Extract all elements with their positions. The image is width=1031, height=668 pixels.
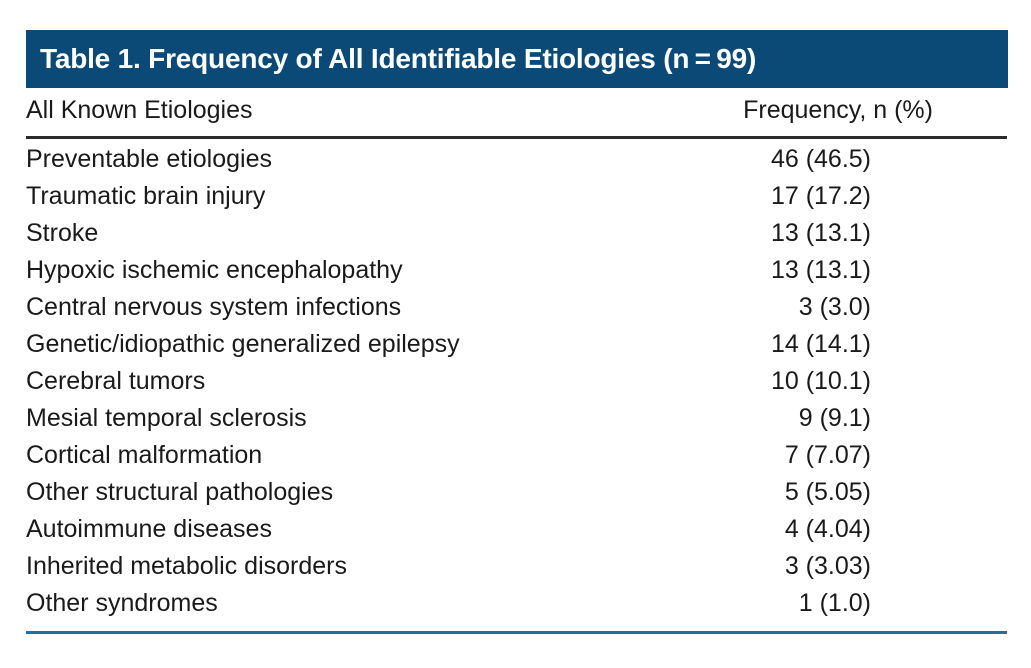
cell-etiology-label: Genetic/idiopathic generalized epilepsy	[26, 330, 681, 359]
table-title-bar: Table 1. Frequency of All Identifiable E…	[26, 30, 1008, 88]
table-row: Other structural pathologies5 (5.05)	[26, 478, 1008, 515]
table-row: Autoimmune diseases4 (4.04)	[26, 515, 1008, 552]
cell-etiology-label: Preventable etiologies	[26, 145, 681, 174]
table-column-header-row: All Known Etiologies Frequency, n (%)	[26, 88, 1008, 136]
cell-etiology-label: Other syndromes	[26, 589, 681, 618]
cell-frequency-value: 7 (7.07)	[681, 441, 1008, 470]
cell-frequency-value: 13 (13.1)	[681, 219, 1008, 248]
table-row: Central nervous system infections3 (3.0)	[26, 293, 1008, 330]
cell-etiology-label: Stroke	[26, 219, 681, 248]
table-title: Table 1. Frequency of All Identifiable E…	[40, 43, 756, 75]
etiology-frequency-table: Table 1. Frequency of All Identifiable E…	[26, 30, 1008, 634]
table-row: Genetic/idiopathic generalized epilepsy1…	[26, 330, 1008, 367]
table-body: Preventable etiologies46 (46.5)Traumatic…	[26, 139, 1008, 626]
cell-frequency-value: 14 (14.1)	[681, 330, 1008, 359]
cell-etiology-label: Cerebral tumors	[26, 367, 681, 396]
cell-frequency-value: 13 (13.1)	[681, 256, 1008, 285]
cell-frequency-value: 46 (46.5)	[681, 145, 1008, 174]
column-header-etiology: All Known Etiologies	[26, 96, 681, 125]
table-row: Preventable etiologies46 (46.5)	[26, 145, 1008, 182]
cell-etiology-label: Central nervous system infections	[26, 293, 681, 322]
cell-etiology-label: Inherited metabolic disorders	[26, 552, 681, 581]
cell-frequency-value: 5 (5.05)	[681, 478, 1008, 507]
cell-frequency-value: 9 (9.1)	[681, 404, 1008, 433]
cell-frequency-value: 17 (17.2)	[681, 182, 1008, 211]
table-row: Traumatic brain injury17 (17.2)	[26, 182, 1008, 219]
cell-frequency-value: 3 (3.0)	[681, 293, 1008, 322]
table-row: Stroke13 (13.1)	[26, 219, 1008, 256]
cell-etiology-label: Hypoxic ischemic encephalopathy	[26, 256, 681, 285]
cell-frequency-value: 1 (1.0)	[681, 589, 1008, 618]
table-row: Mesial temporal sclerosis9 (9.1)	[26, 404, 1008, 441]
table-row: Cerebral tumors10 (10.1)	[26, 367, 1008, 404]
cell-frequency-value: 4 (4.04)	[681, 515, 1008, 544]
footer-divider-rule	[26, 631, 1007, 634]
cell-etiology-label: Mesial temporal sclerosis	[26, 404, 681, 433]
table-row: Inherited metabolic disorders3 (3.03)	[26, 552, 1008, 589]
cell-frequency-value: 10 (10.1)	[681, 367, 1008, 396]
cell-etiology-label: Autoimmune diseases	[26, 515, 681, 544]
cell-etiology-label: Other structural pathologies	[26, 478, 681, 507]
table-row: Hypoxic ischemic encephalopathy13 (13.1)	[26, 256, 1008, 293]
cell-etiology-label: Cortical malformation	[26, 441, 681, 470]
cell-etiology-label: Traumatic brain injury	[26, 182, 681, 211]
cell-frequency-value: 3 (3.03)	[681, 552, 1008, 581]
table-row: Cortical malformation7 (7.07)	[26, 441, 1008, 478]
column-header-frequency: Frequency, n (%)	[681, 96, 1008, 125]
table-row: Other syndromes1 (1.0)	[26, 589, 1008, 626]
